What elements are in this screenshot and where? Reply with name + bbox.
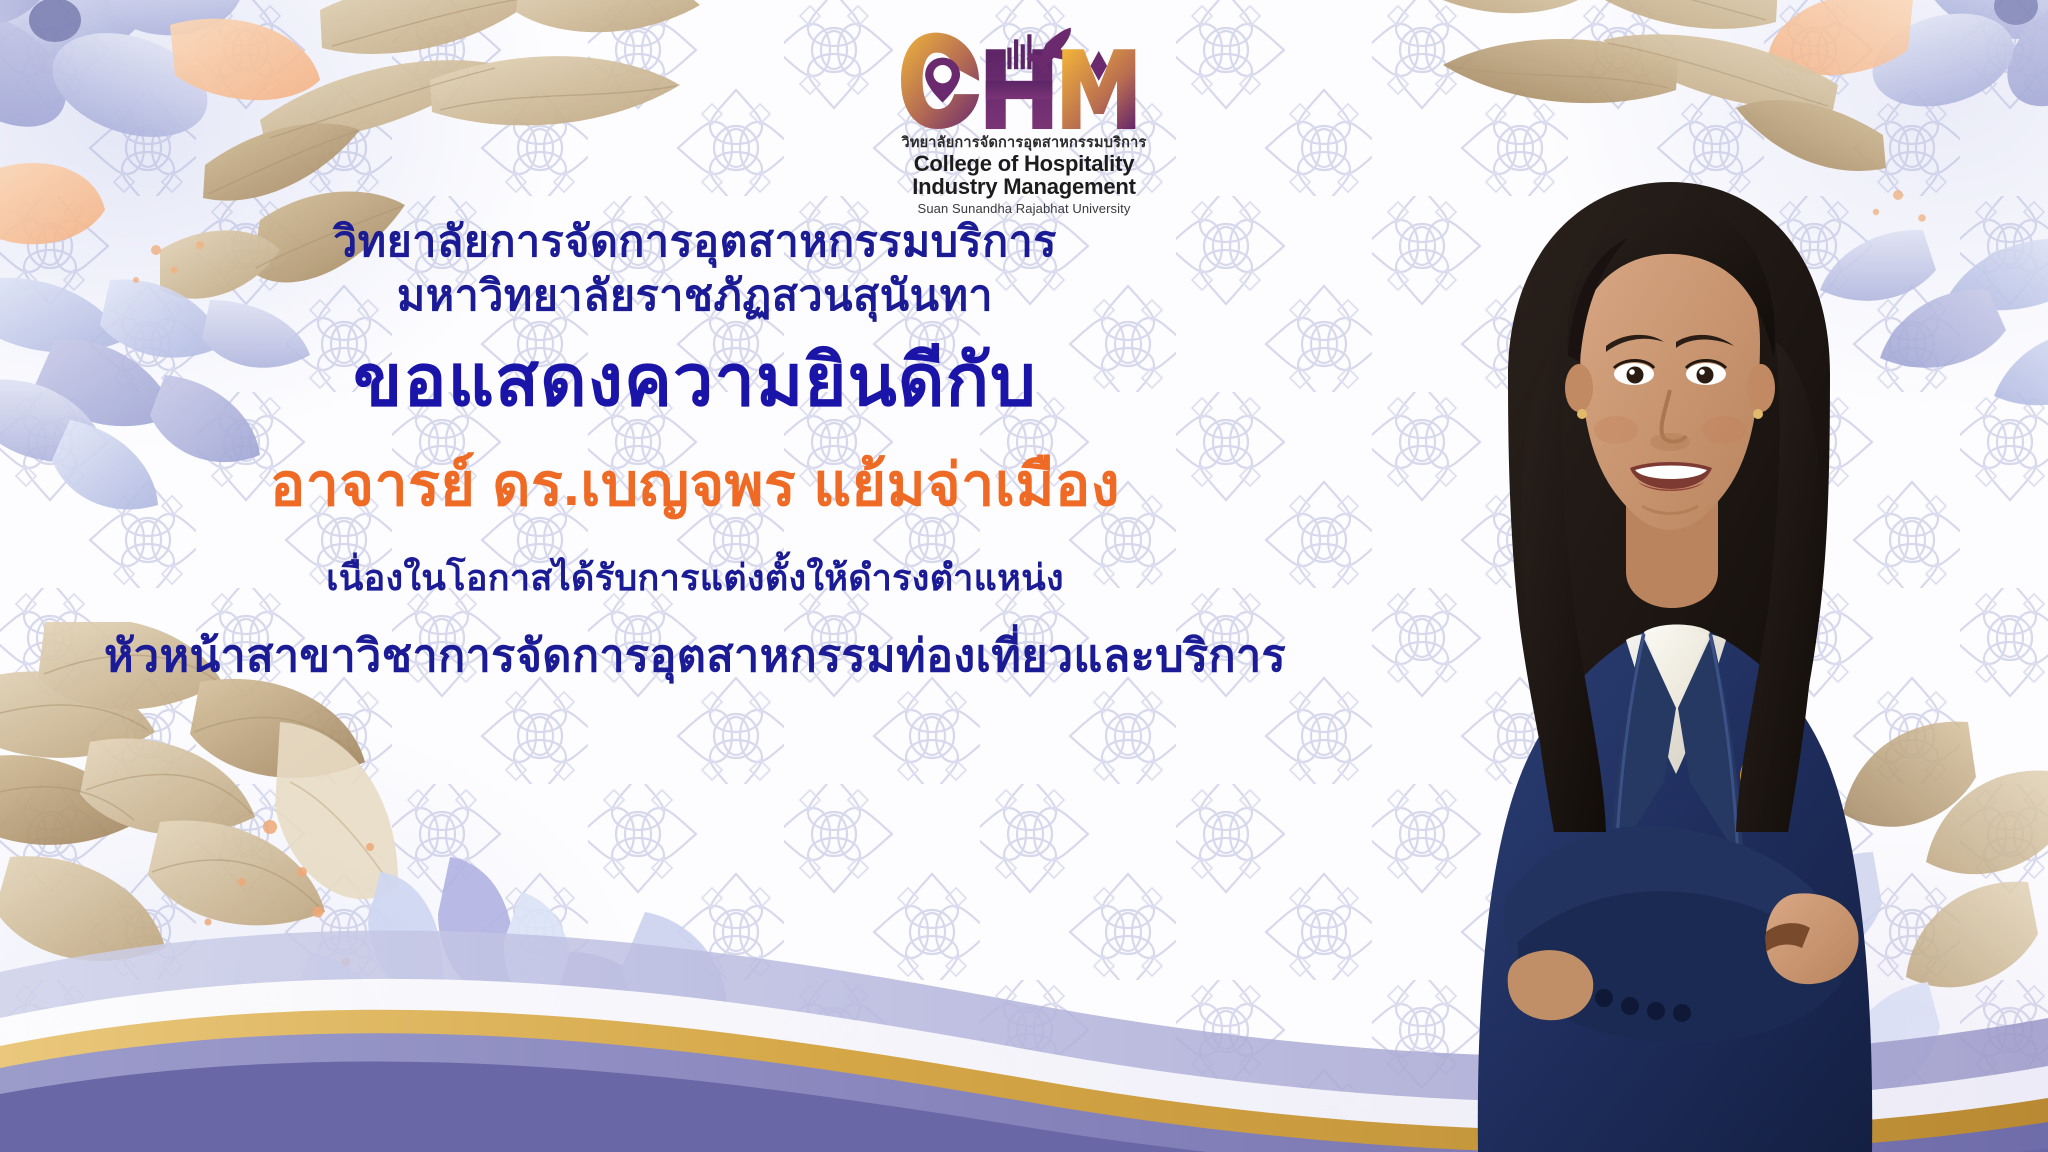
message-text-column: วิทยาลัยการจัดการอุตสาหกรรมบริการ มหาวิท… <box>0 215 1390 686</box>
bottom-wave-ribbon <box>0 822 2048 1152</box>
floral-decoration-bottom-left <box>0 622 770 1152</box>
logo-thai-name: วิทยาลัยการจัดการอุตสาหกรรมบริการ <box>859 136 1189 152</box>
logo-university-name: Suan Sunandha Rajabhat University <box>859 201 1189 216</box>
appointed-position: หัวหน้าสาขาวิชาการจัดการอุตสาหกรรมท่องเท… <box>40 627 1350 686</box>
chm-logo-icon <box>899 26 1149 134</box>
congratulations-heading: ขอแสดงความยินดีกับ <box>40 339 1350 424</box>
floral-decoration-bottom-right <box>1668 712 2048 1092</box>
appointment-reason: เนื่องในโอกาสได้รับการแต่งตั้งให้ดำรงตำแ… <box>40 555 1350 602</box>
logo-english-line1: College of Hospitality <box>859 153 1189 175</box>
honoree-name: อาจารย์ ดร.เบญจพร แย้มจ่าเมือง <box>40 450 1350 521</box>
organization-line-2: มหาวิทยาลัยราชภัฏสวนสุนันทา <box>40 269 1350 325</box>
chm-logo-block: วิทยาลัยการจัดการอุตสาหกรรมบริการ Colleg… <box>859 26 1189 216</box>
floral-decoration-top-right <box>1408 0 2048 410</box>
congratulations-banner: วิทยาลัยการจัดการอุตสาหกรรมบริการ Colleg… <box>0 0 2048 1152</box>
logo-english-line2: Industry Management <box>859 176 1189 198</box>
honoree-portrait <box>1358 142 1978 1152</box>
organization-line-1: วิทยาลัยการจัดการอุตสาหกรรมบริการ <box>40 215 1350 271</box>
